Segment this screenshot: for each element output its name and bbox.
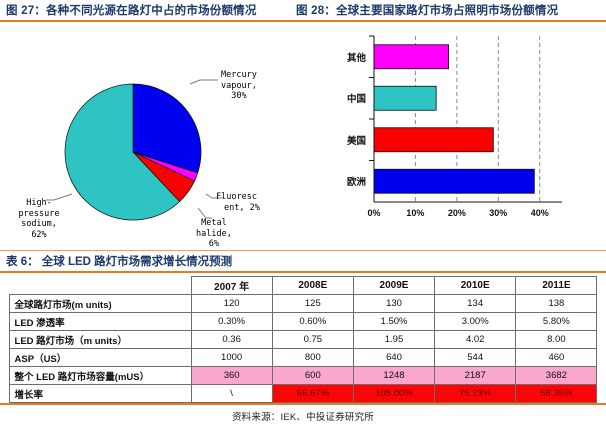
figure-28-title: 图 28：全球主要国家路灯市场占照明市场份额情况 xyxy=(288,0,606,18)
table-col-header-2: 2008E xyxy=(272,277,353,295)
table-cell: 600 xyxy=(272,367,353,385)
table-row: LED 路灯市场（m units）0.360.751.954.028.00 xyxy=(9,331,597,349)
bar-xtick-30: 30% xyxy=(484,208,512,218)
table-cell: 3682 xyxy=(516,367,597,385)
table-cell: 134 xyxy=(435,295,516,313)
table-source-note: 资料来源：IEK、中投证券研究所 xyxy=(0,405,606,423)
bar-chart-figure-28: 欧洲美国中国其他 0%10%20%30%40% xyxy=(300,22,606,250)
bar-其他 xyxy=(374,45,449,69)
table-cell: 640 xyxy=(353,349,434,367)
table-cell: 2187 xyxy=(435,367,516,385)
table-cell: 800 xyxy=(272,349,353,367)
table-row: ASP（US）1000800640544460 xyxy=(9,349,597,367)
bar-xtick-10: 10% xyxy=(401,208,429,218)
charts-row: Mercury vapour, 30% Fluoresc ent, 2% Met… xyxy=(0,22,606,250)
table-row: 全球路灯市场(m units)120125130134138 xyxy=(9,295,597,313)
leader-line-metal-halide xyxy=(198,208,212,218)
table-cell: 544 xyxy=(435,349,516,367)
table-row: 增长率\66.67%108.00%75.23%68.36% xyxy=(9,385,597,403)
table-col-header-3: 2009E xyxy=(353,277,434,295)
bar-中国 xyxy=(374,86,436,110)
table-cell: 1.50% xyxy=(353,313,434,331)
table-row-label: 增长率 xyxy=(9,385,191,403)
table-cell: 4.02 xyxy=(435,331,516,349)
table-cell: 138 xyxy=(516,295,597,313)
table-cell: 0.75 xyxy=(272,331,353,349)
pie-label-fluorescent: Fluoresc ent, 2% xyxy=(216,192,260,213)
bar-category-label-欧洲: 欧洲 xyxy=(326,174,366,188)
table-header-row: 2007 年 2008E 2009E 2010E 2011E xyxy=(9,277,597,295)
table-row: LED 渗透率0.30%0.60%1.50%3.00%5.80% xyxy=(9,313,597,331)
table-cell: 0.36 xyxy=(191,331,272,349)
table-col-header-5: 2011E xyxy=(516,277,597,295)
table-cell: 0.60% xyxy=(272,313,353,331)
table-row-label: 整个 LED 路灯市场容量(mUS） xyxy=(9,367,191,385)
bar-xtick-0: 0% xyxy=(360,208,388,218)
table-cell: 3.00% xyxy=(435,313,516,331)
table-cell: 120 xyxy=(191,295,272,313)
table-col-header-0 xyxy=(9,277,191,295)
table-cell: 68.36% xyxy=(516,385,597,403)
table-row-label: ASP（US） xyxy=(9,349,191,367)
pie-label-high-pressure-sodium: High- pressure sodium, 62% xyxy=(4,198,74,240)
table-col-header-4: 2010E xyxy=(435,277,516,295)
bar-category-label-美国: 美国 xyxy=(326,133,366,147)
table-cell: 108.00% xyxy=(353,385,434,403)
figure-27-title: 图 27：各种不同光源在路灯中占的市场份额情况 xyxy=(0,0,288,18)
bar-xtick-40: 40% xyxy=(526,208,554,218)
bar-美国 xyxy=(374,128,493,152)
table-cell: 1000 xyxy=(191,349,272,367)
table-body: 全球路灯市场(m units)120125130134138LED 渗透率0.3… xyxy=(9,295,597,403)
table-cell: 460 xyxy=(516,349,597,367)
table-col-header-1: 2007 年 xyxy=(191,277,272,295)
bar-欧洲 xyxy=(374,169,534,193)
table-row-label: 全球路灯市场(m units) xyxy=(9,295,191,313)
table-row-label: LED 渗透率 xyxy=(9,313,191,331)
table-cell: 1.95 xyxy=(353,331,434,349)
pie-label-mercury-vapour: Mercury vapour, 30% xyxy=(221,70,257,102)
table-row: 整个 LED 路灯市场容量(mUS）360600124821873682 xyxy=(9,367,597,385)
pie-chart-figure-27: Mercury vapour, 30% Fluoresc ent, 2% Met… xyxy=(0,22,300,250)
bar-category-label-中国: 中国 xyxy=(326,91,366,105)
table-cell: 1248 xyxy=(353,367,434,385)
led-streetlight-forecast-table: 2007 年 2008E 2009E 2010E 2011E 全球路灯市场(m … xyxy=(9,276,598,403)
table-cell: \ xyxy=(191,385,272,403)
table-top-rule xyxy=(0,271,606,273)
pie-slices xyxy=(65,84,201,220)
bar-series xyxy=(374,45,534,194)
table-row-label: LED 路灯市场（m units） xyxy=(9,331,191,349)
table-cell: 75.23% xyxy=(435,385,516,403)
table-cell: 125 xyxy=(272,295,353,313)
table-head: 2007 年 2008E 2009E 2010E 2011E xyxy=(9,277,597,295)
bar-xtick-20: 20% xyxy=(443,208,471,218)
leader-line-mercury xyxy=(190,80,218,84)
table-cell: 8.00 xyxy=(516,331,597,349)
table-cell: 5.80% xyxy=(516,313,597,331)
pie-label-metal-halide: Metal halide, 6% xyxy=(196,218,232,250)
figure-titles-row: 图 27：各种不同光源在路灯中占的市场份额情况 图 28：全球主要国家路灯市场占… xyxy=(0,0,606,20)
bar-category-label-其他: 其他 xyxy=(326,50,366,64)
table-cell: 66.67% xyxy=(272,385,353,403)
table-cell: 130 xyxy=(353,295,434,313)
table-cell: 360 xyxy=(191,367,272,385)
table-cell: 0.30% xyxy=(191,313,272,331)
